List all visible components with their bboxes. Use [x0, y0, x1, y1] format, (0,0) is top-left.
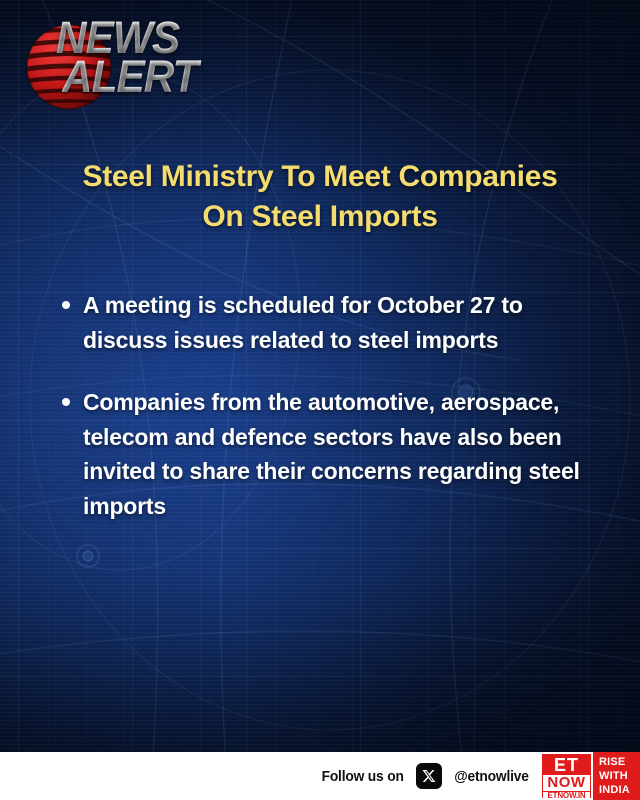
etnow-url-text: ETNOW.IN: [543, 792, 590, 800]
news-alert-line-2: ALERT: [62, 59, 226, 96]
etnow-logo: ET NOW ETNOW.IN RISE WITH INDIA: [540, 752, 640, 800]
etnow-et-text: ET: [543, 755, 590, 774]
etnow-now-text: NOW: [543, 775, 590, 791]
x-twitter-icon[interactable]: [416, 763, 442, 789]
news-alert-card: NEWS ALERT Steel Ministry To Meet Compan…: [0, 0, 640, 800]
list-item: Companies from the automotive, aerospace…: [62, 385, 602, 523]
x-glyph: [421, 768, 437, 784]
etnow-url-prefix: ET: [548, 791, 558, 800]
etnow-tagline: RISE WITH INDIA: [593, 752, 640, 800]
tagline-line-3: INDIA: [599, 783, 640, 797]
bullet-dot-icon: [62, 398, 70, 406]
bullet-text: Companies from the automotive, aerospace…: [83, 385, 583, 523]
headline-line-1: Steel Ministry To Meet Companies: [34, 157, 606, 197]
etnow-url-main: NOW.IN: [557, 791, 585, 800]
bullet-text: A meeting is scheduled for October 27 to…: [83, 288, 583, 357]
social-handle[interactable]: @etnowlive: [454, 768, 529, 785]
footer-bar: Follow us on @etnowlive ET NOW ETNOW.IN …: [0, 752, 640, 800]
page-title: Steel Ministry To Meet Companies On Stee…: [34, 157, 606, 237]
bullet-list: A meeting is scheduled for October 27 to…: [62, 288, 602, 551]
follow-us-label: Follow us on: [321, 768, 403, 785]
tagline-line-1: RISE: [599, 755, 640, 769]
etnow-mark: ET NOW ETNOW.IN: [540, 752, 593, 800]
headline-line-2: On Steel Imports: [34, 197, 606, 237]
bullet-dot-icon: [62, 301, 70, 309]
news-alert-logo: NEWS ALERT: [24, 18, 234, 118]
list-item: A meeting is scheduled for October 27 to…: [62, 288, 602, 357]
follow-us-group: Follow us on @etnowlive: [318, 752, 540, 800]
tagline-line-2: WITH: [599, 769, 640, 783]
